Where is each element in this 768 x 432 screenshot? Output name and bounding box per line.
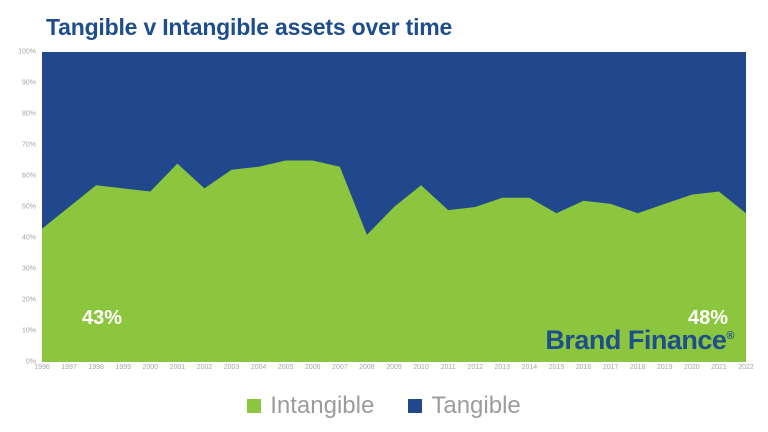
brand-finance-watermark: Brand Finance® xyxy=(545,327,734,354)
y-axis: 0%10%20%30%40%50%60%70%80%90%100% xyxy=(0,52,40,362)
legend: Intangible Tangible xyxy=(0,384,768,428)
plot-area xyxy=(42,52,746,362)
x-axis-tick: 1998 xyxy=(88,364,104,371)
watermark-text: Brand Finance xyxy=(545,325,726,355)
x-axis-tick: 2014 xyxy=(522,364,538,371)
y-axis-tick: 80% xyxy=(22,111,36,118)
plot-wrapper: 43% 48% Brand Finance® xyxy=(42,52,746,362)
x-axis-tick: 2008 xyxy=(359,364,375,371)
legend-item-intangible[interactable]: Intangible xyxy=(247,394,374,418)
registered-trademark-icon: ® xyxy=(726,330,734,342)
x-axis-tick: 2007 xyxy=(332,364,348,371)
x-axis-tick: 1997 xyxy=(61,364,77,371)
x-axis-tick: 2009 xyxy=(386,364,402,371)
y-axis-tick: 20% xyxy=(22,297,36,304)
series-area-tangible xyxy=(42,52,746,235)
x-axis-tick: 2001 xyxy=(170,364,186,371)
x-axis-tick: 2003 xyxy=(224,364,240,371)
x-axis-tick: 2002 xyxy=(197,364,213,371)
stacked-area-chart xyxy=(42,52,746,362)
x-axis-tick: 2015 xyxy=(549,364,565,371)
y-axis-tick: 10% xyxy=(22,328,36,335)
x-axis-tick: 1996 xyxy=(34,364,50,371)
start-value-label: 43% xyxy=(82,307,122,330)
x-axis-tick: 1999 xyxy=(115,364,131,371)
x-axis-tick: 2012 xyxy=(467,364,483,371)
x-axis-tick: 2010 xyxy=(413,364,429,371)
x-axis-tick: 2016 xyxy=(576,364,592,371)
y-axis-tick: 90% xyxy=(22,80,36,87)
legend-item-tangible[interactable]: Tangible xyxy=(408,394,520,418)
x-axis-tick: 2005 xyxy=(278,364,294,371)
x-axis-tick: 2013 xyxy=(495,364,511,371)
x-axis-tick: 2017 xyxy=(603,364,619,371)
x-axis-tick: 2000 xyxy=(143,364,159,371)
legend-item-label: Tangible xyxy=(431,394,520,418)
x-axis-tick: 2020 xyxy=(684,364,700,371)
y-axis-tick: 100% xyxy=(18,49,36,56)
y-axis-tick: 40% xyxy=(22,235,36,242)
x-axis-tick: 2006 xyxy=(305,364,321,371)
legend-item-label: Intangible xyxy=(270,394,374,418)
x-axis-tick: 2019 xyxy=(657,364,673,371)
x-axis: 1996199719981999200020012002200320042005… xyxy=(42,364,746,378)
chart-page: Tangible v Intangible assets over time 0… xyxy=(0,0,768,432)
x-axis-tick: 2021 xyxy=(711,364,727,371)
x-axis-tick: 2018 xyxy=(630,364,646,371)
square-swatch-icon xyxy=(408,399,422,413)
y-axis-tick: 60% xyxy=(22,173,36,180)
y-axis-tick: 30% xyxy=(22,266,36,273)
y-axis-tick: 50% xyxy=(22,204,36,211)
x-axis-tick: 2004 xyxy=(251,364,267,371)
x-axis-tick: 2011 xyxy=(441,364,456,371)
y-axis-tick: 70% xyxy=(22,142,36,149)
square-swatch-icon xyxy=(247,399,261,413)
page-title: Tangible v Intangible assets over time xyxy=(46,14,452,41)
x-axis-tick: 2022 xyxy=(738,364,754,371)
